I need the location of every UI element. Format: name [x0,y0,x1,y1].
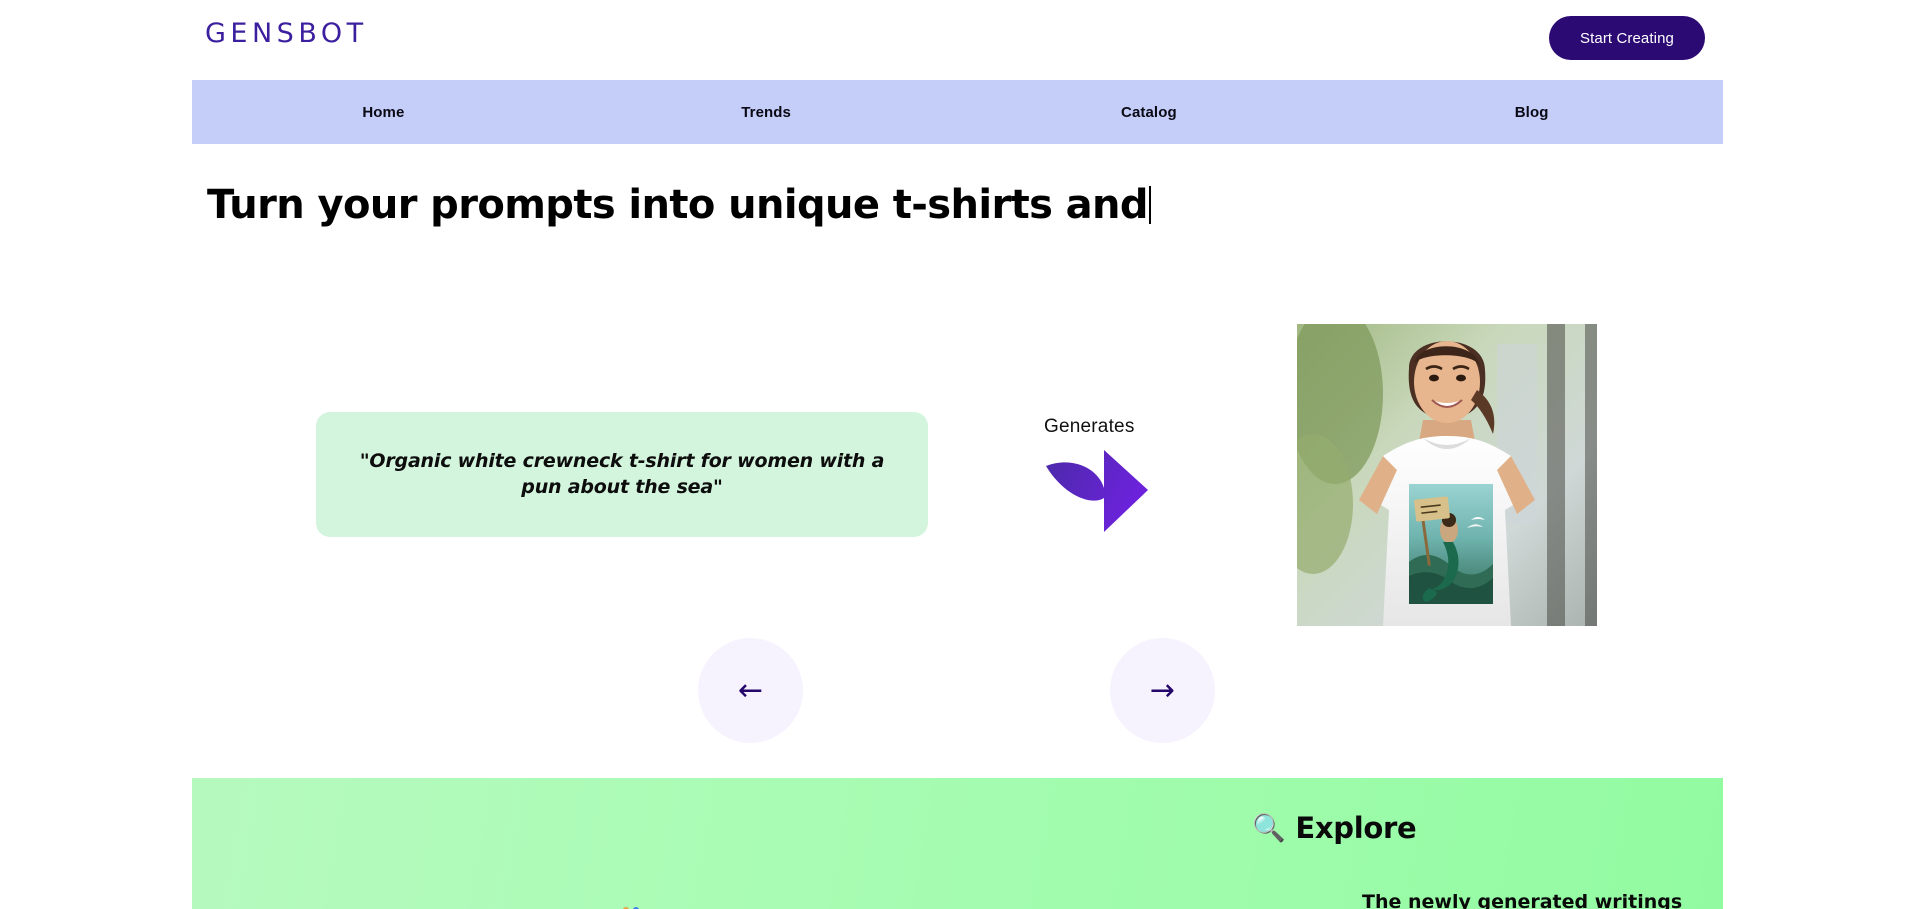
tshirt-model-photo [1297,324,1597,626]
example-prompt-text: "Organic white crewneck t-shirt for wome… [342,449,902,500]
generates-group: Generates [1044,416,1214,551]
main-navigation: Home Trends Catalog Blog [192,80,1723,144]
explore-section: 🔍 Explore The newly generated writings [192,778,1723,909]
brand-logo[interactable]: GENSBOT [205,20,368,47]
hero-headline-text: Turn your prompts into unique t-shirts a… [207,182,1148,228]
magnifier-icon: 🔍 [1252,815,1285,842]
start-creating-button[interactable]: Start Creating [1549,16,1705,60]
carousel-prev-button[interactable]: ← [698,638,803,743]
nav-item-blog[interactable]: Blog [1340,104,1723,121]
typing-caret [1149,186,1151,224]
generates-label: Generates [1044,416,1214,438]
page-root: GENSBOT Start Creating Home Trends Catal… [0,0,1916,909]
explore-heading: 🔍 Explore [1252,811,1416,845]
carousel-next-button[interactable]: → [1110,638,1215,743]
arrow-left-icon: ← [738,676,763,706]
loading-dots-icon [622,904,652,909]
nav-item-trends[interactable]: Trends [575,104,958,121]
nav-item-catalog[interactable]: Catalog [958,104,1341,121]
example-prompt-card: "Organic white crewneck t-shirt for wome… [316,412,928,537]
top-bar: GENSBOT Start Creating [0,0,1916,80]
explore-subtitle: The newly generated writings [1362,891,1682,909]
explore-heading-text: Explore [1295,811,1416,845]
hero-section: Turn your prompts into unique t-shirts a… [192,144,1723,778]
nav-item-home[interactable]: Home [192,104,575,121]
hero-headline: Turn your prompts into unique t-shirts a… [207,181,1151,229]
curved-arrow-icon [1042,444,1152,536]
arrow-right-icon: → [1150,676,1175,706]
